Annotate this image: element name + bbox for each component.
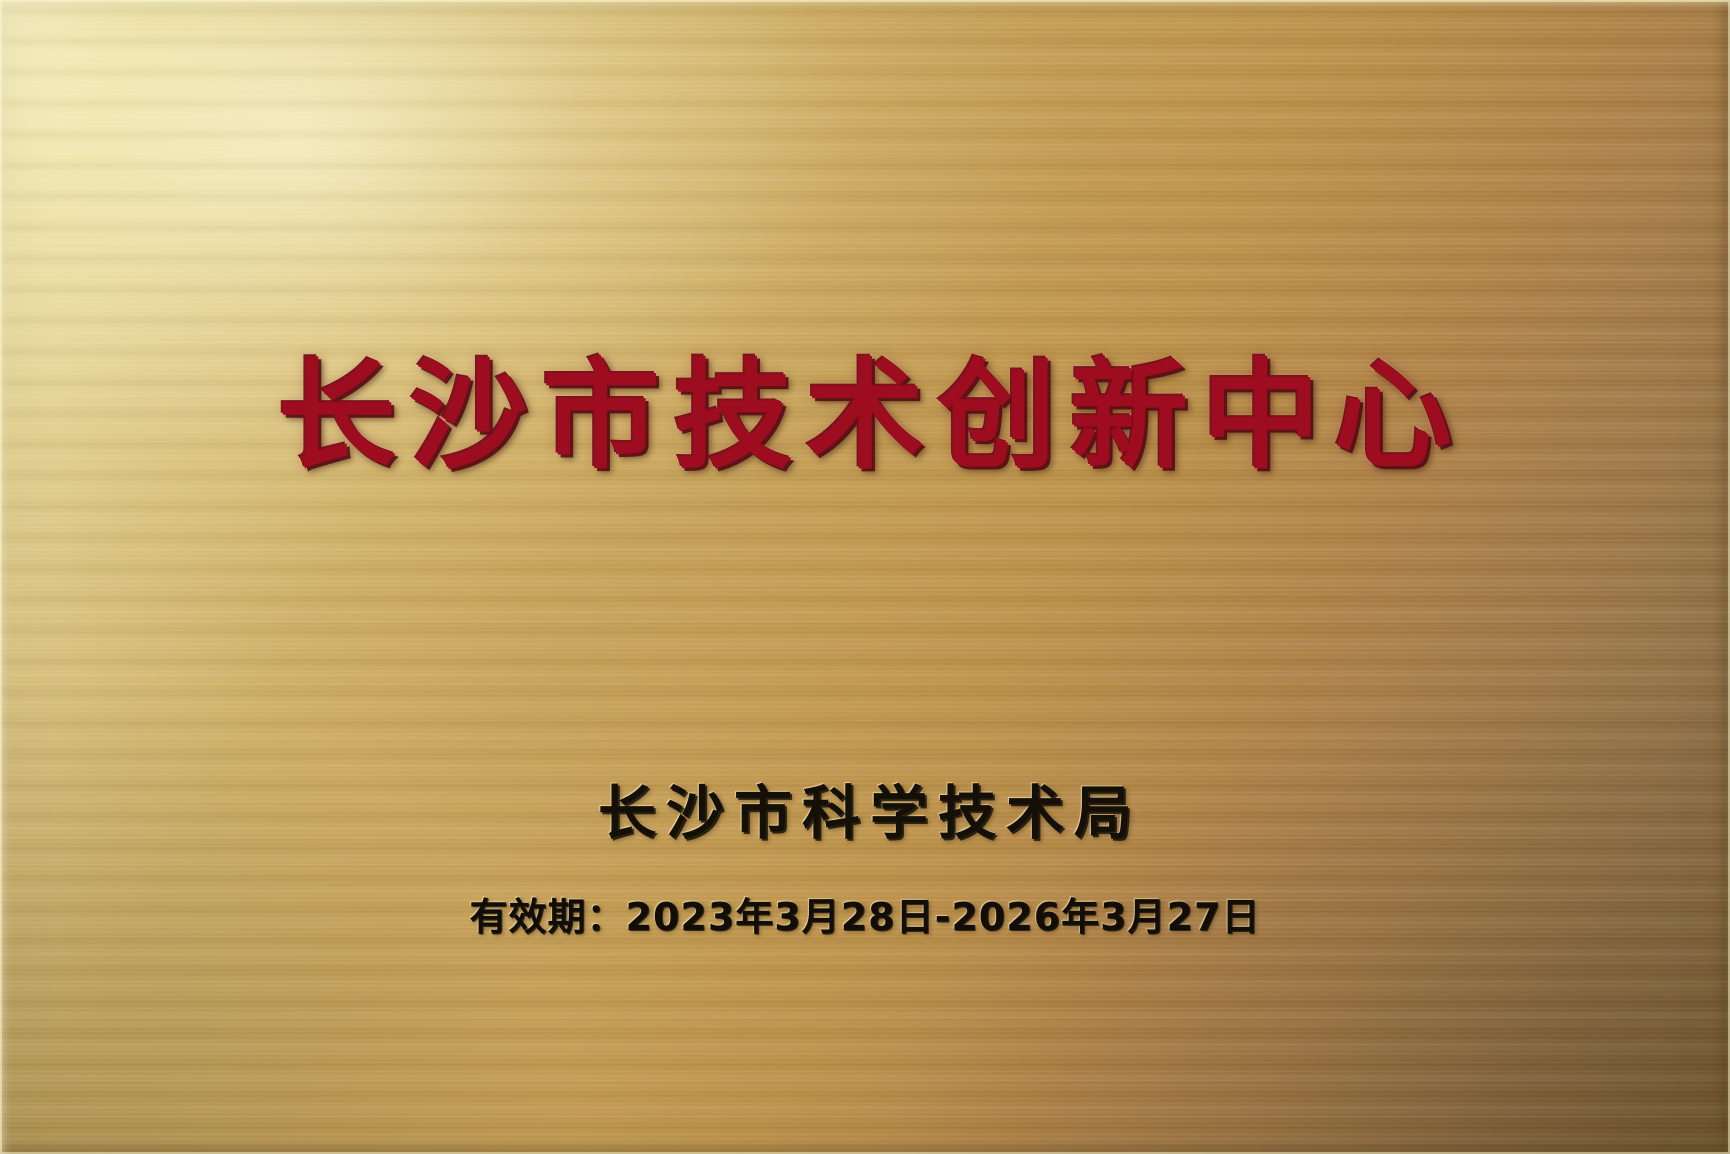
plaque-content: 长沙市技术创新中心 长沙市科学技术局 有效期：2023年3月28日-2026年3… bbox=[0, 0, 1730, 1154]
plate-sheen-overlay bbox=[0, 0, 1730, 1154]
plate-bevel-rim bbox=[0, 0, 1730, 1154]
award-plaque: 长沙市技术创新中心 长沙市科学技术局 有效期：2023年3月28日-2026年3… bbox=[0, 0, 1730, 1154]
plaque-main-title: 长沙市技术创新中心 bbox=[0, 352, 1730, 479]
plaque-issuing-authority: 长沙市科学技术局 bbox=[0, 782, 1730, 846]
plaque-validity-period: 有效期：2023年3月28日-2026年3月27日 bbox=[0, 897, 1730, 939]
brushed-metal-texture bbox=[0, 0, 1730, 1154]
brushed-metal-texture-coarse bbox=[0, 0, 1730, 1154]
